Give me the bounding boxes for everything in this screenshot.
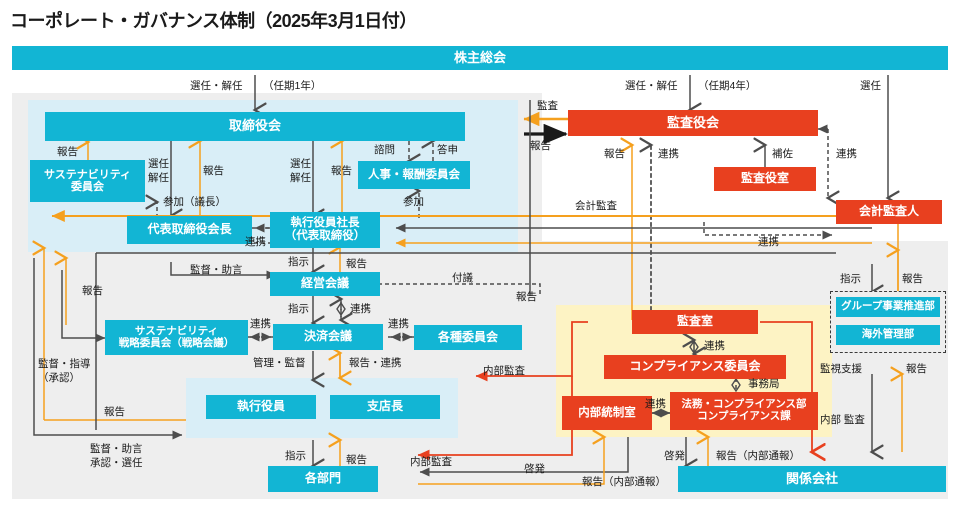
sustainability-strategy-line2: 戦略委員会（戦略会議） — [119, 338, 235, 350]
label-report-chairman: 報告 — [203, 165, 224, 178]
box-legal-compliance-dept[interactable]: 法務・コンプライアンス部 コンプライアンス課 — [670, 392, 818, 430]
box-internal-control-office[interactable]: 内部統制室 — [562, 396, 652, 430]
box-accounting-auditor[interactable]: 会計監査人 — [836, 200, 942, 224]
box-sustainability-strategy-committee[interactable]: サステナビリティ 戦略委員会（戦略会議） — [105, 320, 248, 355]
box-sustainability-committee[interactable]: サステナビリティ 委員会 — [30, 160, 145, 202]
label-report-audit-board: 報告 — [530, 140, 551, 153]
label-internal-audit-3: 内部 監査 — [820, 414, 865, 427]
label-cooperation-compliance: 連携 — [704, 340, 725, 353]
label-report-internal-2: 報告（内部通報） — [582, 476, 666, 489]
box-branch-manager[interactable]: 支店長 — [330, 395, 440, 419]
label-report-sustainability: 報告 — [57, 146, 78, 159]
label-participate-hr: 参加 — [403, 196, 424, 209]
label-report-affiliated: 報告 — [906, 363, 927, 376]
box-president[interactable]: 執行役員社長 （代表取締役） — [270, 212, 380, 248]
label-report-executive: 報告 — [104, 406, 125, 419]
label-supervise-advise-management: 監督・助言 — [190, 264, 243, 277]
label-assist: 補佐 — [772, 148, 793, 161]
label-appoint-dismiss-chairman-1: 選任 — [148, 158, 169, 171]
label-report-strategy: 報告 — [82, 285, 103, 298]
box-representative-chairman[interactable]: 代表取締役会長 — [127, 216, 252, 244]
label-enlightenment-1: 啓発 — [664, 450, 685, 463]
label-instruction-settlement: 指示 — [288, 303, 309, 316]
label-enlightenment-2: 啓発 — [524, 463, 545, 476]
sustainability-strategy-line1: サステナビリティ — [135, 326, 218, 338]
label-cooperation-various: 連携 — [388, 318, 409, 331]
president-line1: 執行役員社長 — [291, 217, 360, 230]
label-supervise-guide-line1: 監督・指導 — [38, 358, 91, 371]
label-appoint-dismiss-4y-b: （任期4年） — [698, 80, 756, 93]
label-submission: 付議 — [452, 272, 473, 285]
label-manage-supervise: 管理・監督 — [253, 357, 306, 370]
box-departments[interactable]: 各部門 — [268, 466, 378, 492]
label-report-internal-1: 報告（内部通報） — [716, 450, 800, 463]
label-appoint-dismiss-1y-a: 選任・解任 — [190, 80, 243, 93]
label-supervise-guide-line2: （承認） — [38, 372, 80, 385]
box-audit-room[interactable]: 監査室 — [632, 310, 758, 334]
box-shareholders-meeting[interactable]: 株主総会 — [12, 46, 948, 70]
label-appoint-dismiss-president-1: 選任 — [290, 158, 311, 171]
label-report-management: 報告 — [346, 258, 367, 271]
label-secretariat: 事務局 — [748, 378, 780, 391]
governance-diagram: コーポレート・ガバナンス体制（2025年3月1日付） — [0, 0, 960, 512]
label-supervise-advise-line2: 承認・選任 — [90, 457, 143, 470]
label-appoint-accounting: 選任 — [860, 80, 881, 93]
label-cooperation-accounting-2: 連携 — [758, 236, 779, 249]
label-appoint-dismiss-4y-a: 選任・解任 — [625, 80, 678, 93]
label-consult: 諮問 — [374, 144, 395, 157]
label-appoint-dismiss-1y-b: （任期1年） — [263, 80, 321, 93]
label-reply: 答申 — [437, 144, 458, 157]
label-cooperation-management-settlement: 連携 — [350, 303, 371, 316]
box-compliance-committee[interactable]: コンプライアンス委員会 — [604, 355, 786, 379]
sustainability-committee-line1: サステナビリティ — [44, 169, 131, 181]
box-board-of-directors[interactable]: 取締役会 — [45, 112, 465, 141]
label-monitoring-support: 監視支援 — [820, 363, 862, 376]
label-instruction-departments: 指示 — [285, 450, 306, 463]
label-internal-audit-1: 内部監査 — [483, 365, 525, 378]
label-cooperation-audit-room: 連携 — [658, 148, 679, 161]
label-internal-audit-2: 内部監査 — [410, 456, 452, 469]
label-cooperation-accounting: 連携 — [836, 148, 857, 161]
label-accounting-audit: 会計監査 — [575, 200, 617, 213]
label-cooperation-internal-control: 連携 — [645, 398, 666, 411]
label-report-audit-room: 報告 — [604, 148, 625, 161]
box-audit-board[interactable]: 監査役会 — [568, 110, 818, 136]
label-cooperation-strategy: 連携 — [250, 318, 271, 331]
label-supervise-advise-line1: 監督・助言 — [90, 443, 143, 456]
sustainability-committee-line2: 委員会 — [71, 181, 104, 193]
label-audit: 監査 — [537, 100, 558, 113]
label-report-right: 報告 — [516, 291, 537, 304]
connector-lines: president cooperation (dashed both) --> — [0, 0, 960, 512]
label-appoint-dismiss-chairman-2: 解任 — [148, 172, 169, 185]
box-group-business-dept[interactable]: グループ事業推進部 — [836, 297, 940, 317]
label-report-president: 報告 — [331, 165, 352, 178]
label-instruction-group: 指示 — [840, 273, 861, 286]
box-hr-compensation-committee[interactable]: 人事・報酬委員会 — [358, 161, 470, 189]
label-report-departments: 報告 — [346, 454, 367, 467]
label-cooperation-chairman-president: 連携 — [245, 236, 266, 249]
label-report-cooperation: 報告・連携 — [349, 357, 402, 370]
box-affiliated-companies[interactable]: 関係会社 — [678, 466, 946, 492]
box-various-committees[interactable]: 各種委員会 — [414, 325, 522, 350]
label-participate-chair: 参加（議長） — [163, 196, 226, 209]
president-line2: （代表取締役） — [285, 230, 366, 243]
box-auditors-office[interactable]: 監査役室 — [714, 167, 816, 191]
box-overseas-management-dept[interactable]: 海外管理部 — [836, 325, 940, 345]
label-report-group-dept: 報告 — [902, 273, 923, 286]
label-instruction-management: 指示 — [288, 256, 309, 269]
box-management-meeting[interactable]: 経営会議 — [270, 272, 380, 296]
label-appoint-dismiss-president-2: 解任 — [290, 172, 311, 185]
box-executive-officers[interactable]: 執行役員 — [206, 395, 316, 419]
legal-compliance-line2: コンプライアンス課 — [697, 411, 791, 423]
box-settlement-meeting[interactable]: 決済会議 — [273, 324, 383, 350]
